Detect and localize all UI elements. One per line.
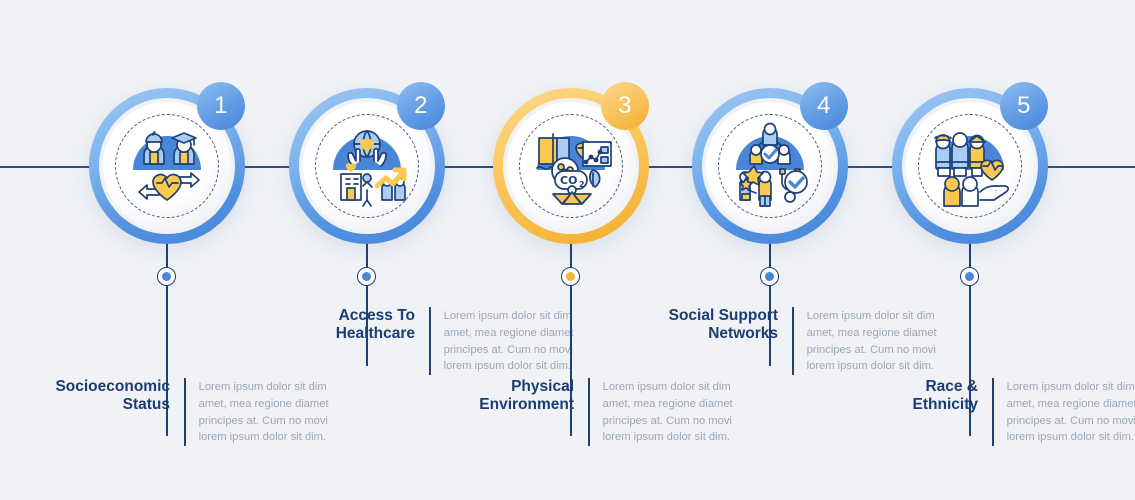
- step-4-body: Lorem ipsum dolor sit dim amet, mea regi…: [794, 307, 962, 375]
- students-heart-pulse-icon: [115, 114, 219, 218]
- step-4-title: Social Support Networks: [628, 307, 792, 343]
- step-1-dot[interactable]: [157, 267, 176, 286]
- step-2-text: Access To Healthcare Lorem ipsum dolor s…: [265, 307, 599, 375]
- svg-text:CO: CO: [560, 174, 577, 187]
- step-3-body: Lorem ipsum dolor sit dim amet, mea regi…: [590, 378, 758, 446]
- step-3-dot[interactable]: [561, 267, 580, 286]
- step-5-text: Race & Ethnicity Lorem ipsum dolor sit d…: [828, 378, 1135, 446]
- step-5-badge: 5: [1000, 82, 1048, 130]
- step-2-dot[interactable]: [357, 267, 376, 286]
- step-4-text: Social Support Networks Lorem ipsum dolo…: [628, 307, 962, 375]
- svg-text:2: 2: [579, 180, 585, 189]
- step-4-dot[interactable]: [760, 267, 779, 286]
- step-5-dot[interactable]: [960, 267, 979, 286]
- step-5-body: Lorem ipsum dolor sit dim amet, mea regi…: [994, 378, 1135, 446]
- step-2-badge: 2: [397, 82, 445, 130]
- step-1-badge: 1: [197, 82, 245, 130]
- infographic-canvas: 1 Socioeconomic Status Lorem ipsum dolor…: [0, 0, 1135, 500]
- step-3-badge: 3: [601, 82, 649, 130]
- step-4-badge: 4: [800, 82, 848, 130]
- step-1-title: Socioeconomic Status: [20, 378, 184, 414]
- family-heart-hand-icon: [918, 114, 1022, 218]
- step-2-title: Access To Healthcare: [265, 307, 429, 343]
- co2-leaf-balance-icon: CO 2: [519, 114, 623, 218]
- hands-globe-hospital-icon: [315, 114, 419, 218]
- step-1-text: Socioeconomic Status Lorem ipsum dolor s…: [20, 378, 354, 446]
- step-3-title: Physical Environment: [424, 378, 588, 414]
- step-3-text: Physical Environment Lorem ipsum dolor s…: [424, 378, 758, 446]
- step-1-body: Lorem ipsum dolor sit dim amet, mea regi…: [186, 378, 354, 446]
- people-network-stethoscope-icon: [718, 114, 822, 218]
- step-5-title: Race & Ethnicity: [828, 378, 992, 414]
- step-2-body: Lorem ipsum dolor sit dim amet, mea regi…: [431, 307, 599, 375]
